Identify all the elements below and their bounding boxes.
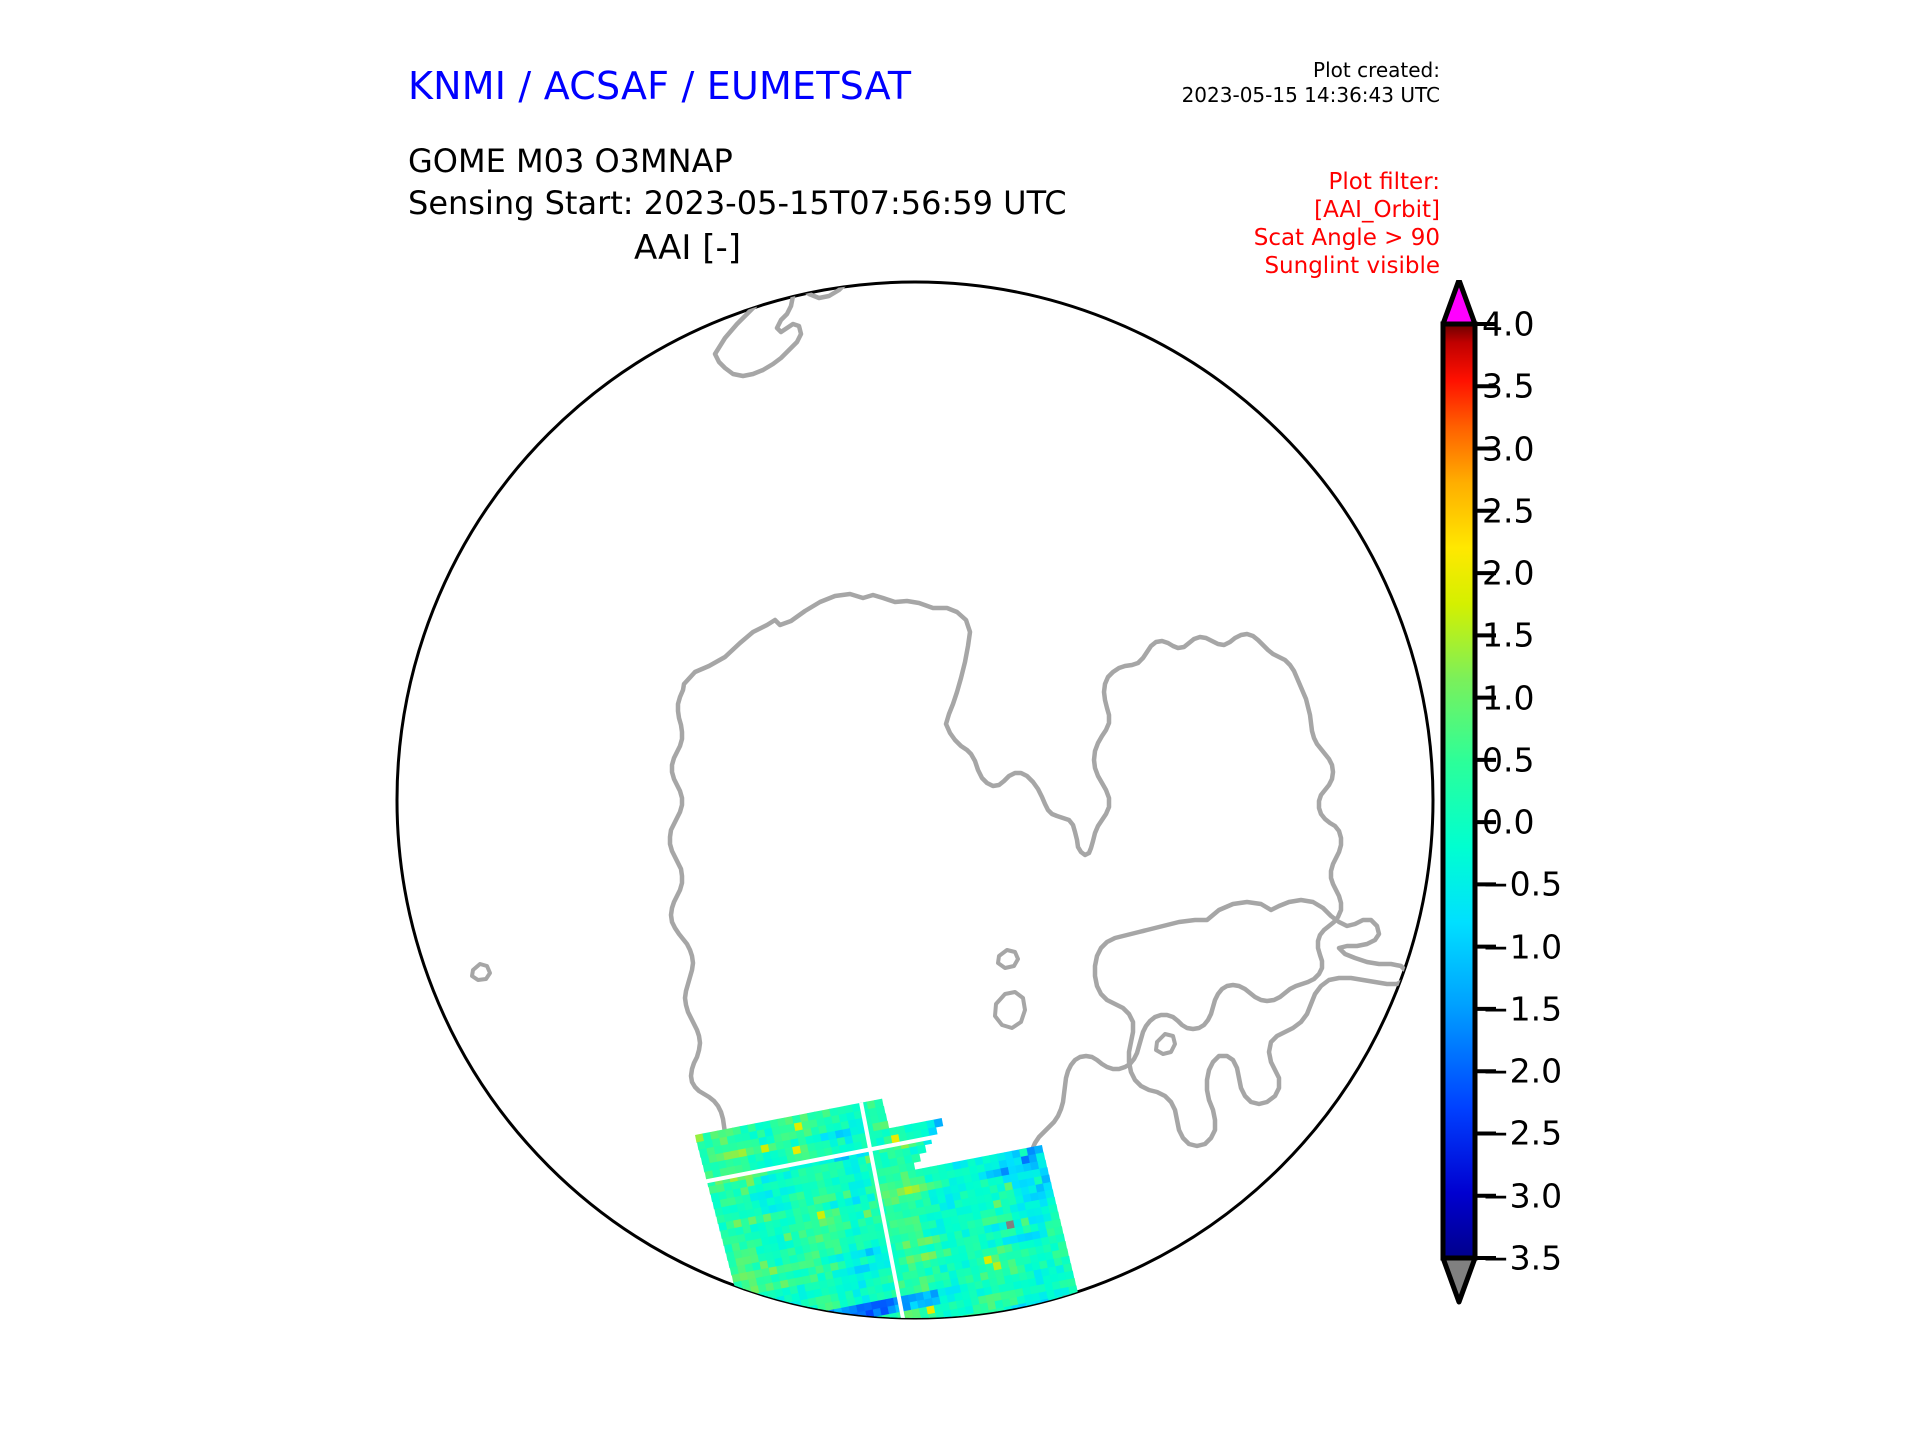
swath-pixel bbox=[1037, 1315, 1047, 1320]
swath-pixel bbox=[1035, 1307, 1045, 1317]
colorbar-over-arrow bbox=[1443, 280, 1475, 324]
swath-pixel bbox=[821, 1318, 831, 1320]
colorbar-tick-label: −2.5 bbox=[1482, 1117, 1562, 1150]
swath-pixel bbox=[782, 1318, 792, 1320]
swath-pixel bbox=[1074, 1308, 1084, 1318]
tasmania bbox=[437, 398, 473, 436]
swath-pixel bbox=[1052, 1312, 1062, 1320]
swath-pixel bbox=[1057, 1303, 1067, 1313]
swath-pixel bbox=[795, 1308, 805, 1318]
colorbar-tick-label: 2.5 bbox=[1482, 494, 1534, 527]
colorbar-tick-label: −0.5 bbox=[1482, 868, 1562, 901]
swath-pixel bbox=[758, 1315, 768, 1320]
swath-pixel bbox=[1068, 1316, 1078, 1320]
swath-pixel bbox=[754, 1300, 764, 1310]
swath-pixel bbox=[934, 1118, 944, 1128]
swath-pixel bbox=[998, 1315, 1008, 1320]
colorbar-tick-label: −3.0 bbox=[1482, 1179, 1562, 1212]
swath-pixel bbox=[911, 1153, 921, 1163]
dataset-name: GOME M03 O3MNAP bbox=[408, 140, 1067, 182]
colorbar-tick-label: 0.0 bbox=[1482, 806, 1534, 839]
colorbar-tick-label: −2.0 bbox=[1482, 1055, 1562, 1088]
swath-pixel bbox=[738, 1295, 748, 1305]
swath-pixel bbox=[976, 1319, 986, 1320]
plot-filter-label: Plot filter: bbox=[1130, 168, 1440, 196]
plot-created-block: Plot created: 2023-05-15 14:36:43 UTC bbox=[1120, 58, 1440, 108]
colorbar-under-arrow bbox=[1443, 1258, 1475, 1302]
colorbar-tick-label: 3.0 bbox=[1482, 432, 1534, 465]
colorbar-tick-label: 1.0 bbox=[1482, 681, 1534, 714]
colorbar-tick-label: 4.0 bbox=[1482, 308, 1534, 341]
australia-southeast-fragment bbox=[395, 362, 427, 416]
plot-filter-orbit: [AAI_Orbit] bbox=[1130, 196, 1440, 224]
swath-pixel bbox=[762, 1299, 772, 1309]
colorbar-tick-label: −3.5 bbox=[1482, 1242, 1562, 1275]
colorbar-tick-label: −1.5 bbox=[1482, 992, 1562, 1025]
variable-title: AAI [-] bbox=[0, 228, 1375, 268]
colorbar-panel: 4.03.53.02.52.01.51.00.50.0−0.5−1.0−1.5−… bbox=[1430, 280, 1760, 1340]
swath-pixel bbox=[1059, 1310, 1069, 1320]
dataset-info-block: GOME M03 O3MNAP Sensing Start: 2023-05-1… bbox=[408, 140, 1067, 224]
swath-pixel bbox=[749, 1309, 759, 1319]
colorbar-gradient bbox=[1443, 324, 1475, 1258]
swath-pixel bbox=[790, 1316, 800, 1320]
swath-pixel bbox=[828, 1317, 838, 1320]
swath-pixel bbox=[773, 1312, 783, 1320]
swath-pixel bbox=[751, 1316, 761, 1320]
colorbar-tick-label: 3.5 bbox=[1482, 370, 1534, 403]
swath-pixel bbox=[780, 1310, 790, 1320]
swath-pixel bbox=[1022, 1318, 1032, 1320]
swath-pixel bbox=[1044, 1313, 1054, 1320]
swath-pixel bbox=[1015, 1319, 1025, 1320]
swath-pixel bbox=[917, 1145, 927, 1155]
colorbar-tick-label: −1.0 bbox=[1482, 930, 1562, 963]
swath-pixel bbox=[771, 1304, 781, 1314]
plot-created-label: Plot created: bbox=[1120, 58, 1440, 83]
swath-pixel bbox=[1030, 1316, 1040, 1320]
swath-pixel bbox=[991, 1316, 1001, 1320]
swath-pixel bbox=[739, 1303, 749, 1313]
swath-pixel bbox=[747, 1301, 757, 1311]
swath-pixel bbox=[778, 1303, 788, 1313]
swath-pixel bbox=[1072, 1300, 1082, 1310]
swath-pixel bbox=[1066, 1309, 1076, 1319]
swath-pixel bbox=[756, 1307, 766, 1317]
swath-pixel bbox=[765, 1313, 775, 1320]
swath-pixel bbox=[775, 1319, 785, 1320]
swath-pixel bbox=[1013, 1312, 1023, 1320]
swath-pixel bbox=[860, 1318, 870, 1320]
swath-pixel bbox=[983, 1317, 993, 1320]
swath-pixel bbox=[797, 1315, 807, 1320]
plot-canvas: KNMI / ACSAF / EUMETSAT Plot created: 20… bbox=[0, 0, 1920, 1440]
colorbar-tick-labels: 4.03.53.02.52.01.51.00.50.0−0.5−1.0−1.5−… bbox=[1482, 280, 1632, 1340]
swath-pixel bbox=[1061, 1318, 1071, 1320]
map-panel bbox=[395, 280, 1435, 1320]
swath-pixel bbox=[741, 1310, 751, 1320]
swath-pixel bbox=[745, 1294, 755, 1304]
map-svg bbox=[395, 280, 1435, 1320]
swath-pixel bbox=[764, 1306, 774, 1316]
swath-pixel bbox=[788, 1309, 798, 1319]
globe-limb-circle bbox=[397, 282, 1433, 1318]
swath-pixel bbox=[1028, 1309, 1038, 1319]
sensing-start: Sensing Start: 2023-05-15T07:56:59 UTC bbox=[408, 182, 1067, 224]
swath-pixel bbox=[743, 1318, 753, 1320]
colorbar-tick-label: 0.5 bbox=[1482, 743, 1534, 776]
swath-pixel bbox=[1065, 1302, 1075, 1312]
swath-pixel bbox=[814, 1319, 824, 1320]
plot-created-value: 2023-05-15 14:36:43 UTC bbox=[1120, 83, 1440, 108]
swath-pixel bbox=[812, 1312, 822, 1320]
swath-pixel bbox=[1006, 1313, 1016, 1320]
swath-pixel bbox=[1042, 1306, 1052, 1316]
colorbar-tick-label: 1.5 bbox=[1482, 619, 1534, 652]
colorbar-tick-label: 2.0 bbox=[1482, 557, 1534, 590]
swath-pixel bbox=[1050, 1304, 1060, 1314]
swath-pixel bbox=[836, 1315, 846, 1320]
swath-pixel bbox=[1054, 1319, 1064, 1320]
swath-pixel bbox=[1020, 1310, 1030, 1320]
swath-pixel bbox=[804, 1313, 814, 1320]
organisation-title: KNMI / ACSAF / EUMETSAT bbox=[408, 64, 911, 108]
swath-pixel bbox=[1076, 1315, 1086, 1320]
